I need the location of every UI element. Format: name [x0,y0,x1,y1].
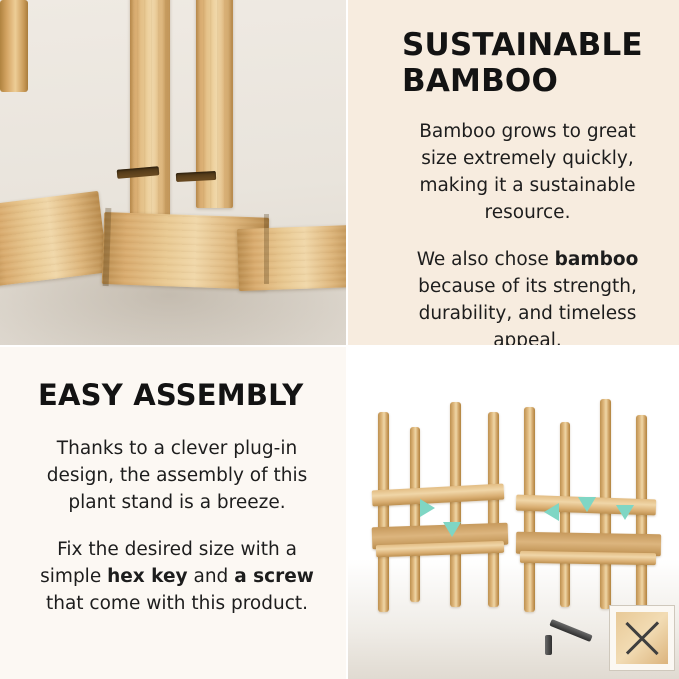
insert-arrow-right-down-1 [578,497,596,512]
left-frame-leg-4 [488,412,499,607]
assembly-paragraph-tail: that come with this product. [46,593,308,614]
assembly-paragraph-mid: and [188,566,235,587]
paragraph-2-lead: We also chose [417,249,555,270]
left-frame-leg-3 [450,402,461,607]
easy-assembly-paragraph-2: Fix the desired size with a simple hex k… [38,536,316,617]
bamboo-lower-leg [0,0,28,92]
right-frame-leg-2 [560,422,570,607]
paragraph-2-tail: because of its strength, durability, and… [418,276,637,345]
horizontal-divider [0,345,679,347]
hex-key-long-arm [549,619,592,642]
rail-edge-shadow-right [264,214,269,284]
bamboo-rail-left [0,191,108,287]
left-frame-upper-rail [372,484,505,507]
insert-arrow-right-down-2 [616,505,634,520]
assembly-emphasis-screw: a screw [234,566,314,587]
vertical-divider [346,0,348,679]
product-infographic: Close-up photo of notched bamboo cross j… [0,0,679,679]
sustainable-bamboo-paragraph-1: Bamboo grows to great size extremely qui… [402,118,653,226]
sustainable-bamboo-headline: SUSTAINABLE BAMBOO [402,28,653,100]
bamboo-post-left [130,0,170,225]
panel-easy-assembly: EASY ASSEMBLY Thanks to a clever plug-in… [0,347,346,679]
expand-arrow-left-right [420,499,435,517]
expand-arrow-right-left [544,503,559,521]
easy-assembly-paragraph-1: Thanks to a clever plug-in design, the a… [38,435,316,516]
left-frame-leg-1 [378,412,389,612]
easy-assembly-headline: EASY ASSEMBLY [38,379,316,413]
sustainable-bamboo-paragraph-2: We also chose bamboo because of its stre… [402,246,653,345]
screw-plate-inset [609,605,675,671]
bottom-right-photo-alt: Two bamboo plant stand frames showing ex… [348,347,349,348]
insert-arrow-left-down [443,522,461,537]
left-frame-leg-2 [410,427,420,602]
hex-key-short-arm [545,635,552,655]
hex-key-inset [535,605,605,671]
assembly-emphasis-hex-key: hex key [107,566,188,587]
bamboo-rail-right [237,225,346,291]
panel-sustainable-bamboo: SUSTAINABLE BAMBOO Bamboo grows to great… [348,0,679,345]
paragraph-2-emphasis: bamboo [555,249,639,270]
screw-cross-head-icon [616,612,668,664]
panel-assembly-photo: Two bamboo plant stand frames showing ex… [348,347,679,679]
panel-bamboo-joint-photo: Close-up photo of notched bamboo cross j… [0,0,346,345]
top-left-photo-alt: Close-up photo of notched bamboo cross j… [0,92,1,93]
right-frame-support-rail [520,551,656,565]
